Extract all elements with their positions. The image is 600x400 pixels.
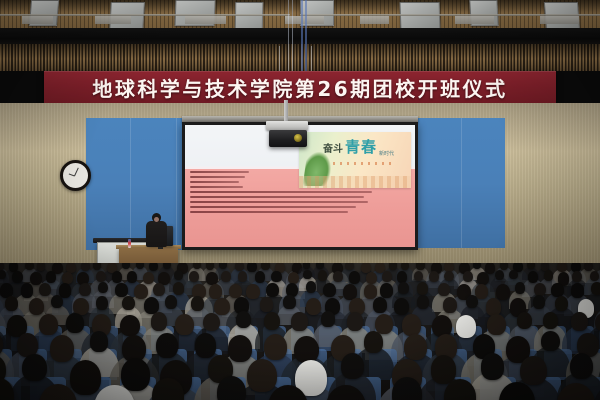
audience-person-head bbox=[557, 263, 567, 272]
audience-person-head bbox=[165, 295, 177, 309]
audience-person-head bbox=[306, 281, 316, 293]
audience-person-head bbox=[195, 333, 217, 358]
audience-person-head bbox=[366, 272, 377, 284]
audience-person-head bbox=[174, 270, 183, 280]
lecture-hall-photo: 地球科学与技术学院第26期团校开班仪式 奋斗 青春 新时代 bbox=[0, 0, 600, 400]
audience-person-head bbox=[515, 282, 526, 294]
audience-person-head bbox=[121, 358, 150, 391]
event-banner-text: 地球科学与技术学院第26期团校开班仪式 bbox=[92, 73, 507, 102]
audience-person-head bbox=[496, 284, 510, 300]
ceiling-light-panel bbox=[235, 2, 264, 31]
audience-person-head bbox=[66, 313, 84, 333]
audience-person-head bbox=[235, 263, 244, 271]
audience-person-head bbox=[571, 312, 588, 331]
audience-person-head bbox=[0, 270, 6, 280]
blue-panel-seam bbox=[461, 118, 462, 248]
audience-person-head bbox=[29, 298, 44, 315]
projector-mount-pole bbox=[284, 100, 288, 122]
audience-person-head bbox=[487, 314, 506, 335]
audience-person-head bbox=[341, 353, 364, 379]
audience-person-head bbox=[528, 271, 538, 283]
slide-title-teal: 青春 bbox=[345, 136, 377, 157]
audience-person-head bbox=[228, 335, 252, 362]
audience-person-head bbox=[51, 295, 63, 308]
audience-person-head bbox=[306, 298, 321, 315]
audience-person-head bbox=[264, 334, 287, 360]
slide-text-line bbox=[190, 196, 364, 198]
audience-person-head bbox=[347, 312, 364, 331]
audience-person-head bbox=[209, 284, 222, 299]
blue-panel-seam bbox=[130, 118, 131, 250]
projector-lens-icon bbox=[294, 134, 302, 142]
audience-person-head bbox=[246, 284, 260, 299]
ceiling-projector bbox=[269, 130, 307, 147]
audience-person-head bbox=[364, 331, 383, 353]
audience-person-head bbox=[389, 263, 397, 270]
audience-person-head bbox=[189, 271, 199, 282]
audience-person-head bbox=[444, 271, 454, 282]
audience-person-head bbox=[541, 331, 560, 352]
audience-person-head bbox=[456, 315, 476, 338]
audience-person-head bbox=[238, 271, 248, 282]
audience-person-head bbox=[22, 354, 46, 381]
audience-person-head bbox=[96, 271, 106, 282]
audience-person-head bbox=[39, 314, 58, 335]
slide-title-small: 新时代 bbox=[379, 150, 394, 157]
audience-person-head bbox=[143, 272, 154, 284]
presenter-face bbox=[154, 217, 159, 222]
audience-person-head bbox=[373, 297, 387, 313]
audience-person-head bbox=[517, 312, 533, 329]
ceiling-grille-block bbox=[360, 16, 389, 24]
audience-person-head bbox=[122, 296, 135, 311]
ceiling-grille-block bbox=[540, 16, 579, 24]
audience-person-head bbox=[294, 336, 319, 364]
audience-person-head bbox=[81, 263, 90, 271]
ceiling-grille-block bbox=[455, 16, 494, 24]
audience-person-head bbox=[392, 377, 422, 400]
slide-text-line bbox=[190, 201, 368, 203]
slide-text-line bbox=[190, 191, 372, 193]
audience-person-head bbox=[349, 271, 360, 283]
audience-person-head bbox=[402, 314, 421, 336]
slide-text-line bbox=[190, 171, 249, 173]
slide-text-line bbox=[190, 181, 239, 183]
audience-person-head bbox=[134, 284, 148, 299]
audience-person-head bbox=[236, 311, 251, 328]
audience-person-head bbox=[221, 271, 231, 282]
audience-person-head bbox=[443, 297, 457, 313]
ceiling-slats-lower bbox=[0, 44, 600, 71]
audience-person-head bbox=[260, 297, 274, 313]
audience-person-head bbox=[203, 313, 220, 332]
slide-photo: 奋斗 青春 新时代 bbox=[299, 132, 411, 188]
audience-person-head bbox=[173, 282, 184, 294]
audience-person-head bbox=[544, 270, 553, 281]
audience-person-head bbox=[520, 356, 546, 385]
audience-person-head bbox=[90, 331, 109, 352]
audience-person-head bbox=[475, 284, 488, 299]
audience-person-head bbox=[323, 283, 336, 297]
slide-text-line bbox=[190, 186, 243, 188]
ceiling-light-panel bbox=[400, 2, 441, 31]
audience-person-head bbox=[50, 335, 74, 362]
audience-person-head bbox=[127, 271, 138, 283]
audience-person-head bbox=[46, 271, 56, 283]
audience-person-head bbox=[543, 312, 559, 330]
slide-title-dark: 奋斗 bbox=[323, 140, 343, 155]
presenter-body bbox=[146, 221, 167, 247]
audience-person-head bbox=[438, 283, 450, 296]
water-bottle bbox=[128, 239, 131, 248]
audience-person-head bbox=[112, 271, 122, 283]
slide-text-line bbox=[190, 206, 356, 208]
audience-person-head bbox=[500, 263, 508, 270]
wall-clock bbox=[60, 160, 91, 191]
dotted-path-graphic bbox=[333, 162, 393, 165]
slide-text-line bbox=[190, 211, 348, 213]
audience-person-head bbox=[486, 298, 502, 316]
audience-person-head bbox=[217, 376, 246, 400]
audience-person-head bbox=[37, 263, 46, 271]
audience-person-head bbox=[151, 312, 168, 331]
audience-person-head bbox=[261, 263, 269, 270]
audience-person-head bbox=[136, 263, 144, 269]
audience-person-head bbox=[206, 263, 214, 270]
blue-panel-seam bbox=[176, 118, 177, 250]
audience-person-head bbox=[382, 271, 392, 282]
audience-person-head bbox=[98, 282, 108, 294]
audience-person-head bbox=[571, 283, 584, 297]
audience-person-head bbox=[219, 263, 227, 269]
audience-person-head bbox=[591, 282, 600, 295]
audience-person-head bbox=[247, 263, 257, 272]
audience-person-head bbox=[481, 353, 504, 379]
audience-person-head bbox=[206, 272, 217, 285]
audience-person-head bbox=[291, 312, 308, 331]
skyline-graphic bbox=[299, 176, 411, 188]
ceiling-grille-block bbox=[95, 16, 131, 24]
audience-person-head bbox=[120, 315, 139, 337]
audience-person-head bbox=[12, 271, 23, 283]
audience-person-head bbox=[247, 359, 277, 392]
audience-person-head bbox=[463, 271, 473, 282]
audience-person-head bbox=[303, 270, 312, 280]
audience-person-head bbox=[21, 283, 34, 297]
audience-person-head bbox=[417, 282, 428, 295]
slide-text-line bbox=[190, 176, 245, 178]
audience-person-head bbox=[30, 272, 42, 285]
audience-person-head bbox=[495, 270, 504, 280]
audience-person-head bbox=[175, 314, 194, 335]
audience-person-head bbox=[584, 263, 593, 271]
audience-person-head bbox=[416, 263, 424, 270]
audience-person-head bbox=[380, 283, 393, 297]
audience-person-head bbox=[288, 272, 299, 284]
audience-person-head bbox=[283, 295, 295, 308]
audience-person-head bbox=[551, 283, 564, 297]
audience-person-head bbox=[156, 333, 178, 357]
audience-person-head bbox=[364, 284, 377, 299]
audience-person-head bbox=[398, 282, 409, 294]
audience-person-head bbox=[115, 283, 127, 297]
audience-person-head bbox=[533, 295, 545, 308]
slide-photo-title: 奋斗 青春 新时代 bbox=[323, 136, 394, 157]
audience-person-head bbox=[509, 270, 518, 280]
audience-person-head bbox=[62, 272, 73, 284]
audience-person-head bbox=[271, 271, 281, 282]
audience-person-head bbox=[429, 271, 439, 282]
audience-area bbox=[0, 263, 600, 400]
audience-person-head bbox=[79, 283, 91, 296]
event-banner: 地球科学与技术学院第26期团校开班仪式 bbox=[44, 71, 556, 103]
audience-person-head bbox=[191, 296, 204, 311]
ceiling-grille-block bbox=[185, 16, 226, 24]
audience-person-head bbox=[321, 311, 336, 327]
audience-person-head bbox=[214, 298, 230, 315]
audience-person-head bbox=[5, 296, 18, 311]
audience-person-head bbox=[266, 283, 278, 297]
audience-person-head bbox=[93, 263, 101, 270]
audience-person-head bbox=[96, 296, 109, 310]
audience-person-head bbox=[318, 270, 327, 280]
projector-mount-plate bbox=[266, 121, 308, 130]
audience-person-head bbox=[153, 283, 165, 296]
audience-person-head bbox=[255, 271, 265, 283]
audience-person-head bbox=[555, 296, 568, 311]
audience-person-head bbox=[264, 312, 280, 330]
audience-person-head bbox=[70, 360, 101, 395]
audience-person-head bbox=[394, 298, 409, 315]
audience-person-head bbox=[404, 334, 427, 360]
audience-person-head bbox=[303, 263, 311, 269]
audience-person-head bbox=[570, 353, 593, 379]
audience-person-head bbox=[485, 263, 495, 274]
ceiling-grille-block bbox=[22, 16, 53, 24]
audience-person-head bbox=[163, 263, 171, 269]
audience-person-head bbox=[316, 263, 324, 269]
audience-person-head bbox=[417, 295, 429, 309]
audience-person-head bbox=[431, 355, 456, 384]
